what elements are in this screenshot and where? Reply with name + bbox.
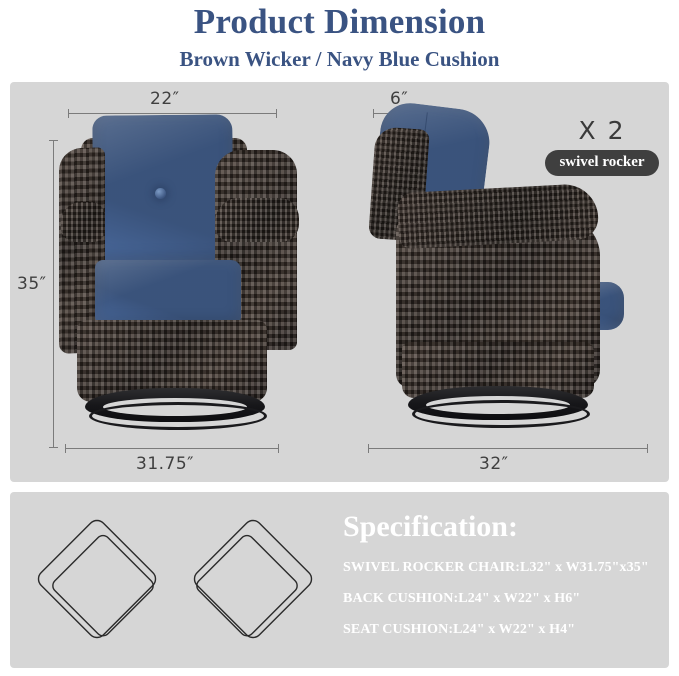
specification-heading: Specification: — [343, 512, 663, 542]
frame-right-arm-roll — [215, 198, 299, 242]
infographic-canvas: Product Dimension Brown Wicker / Navy Bl… — [0, 0, 679, 676]
spec-line: BACK CUSHION:L24" x W22" x H6" — [343, 592, 663, 606]
dim-label-overall-height: 35″ — [17, 274, 46, 294]
page-title: Product Dimension — [0, 4, 679, 39]
seat-cushion-outline-diagram — [178, 504, 328, 654]
dimension-panel: 4″ 22″ 35″ — [10, 82, 669, 482]
frame-left-arm-roll — [61, 202, 105, 242]
frame-side-arm-top — [397, 183, 600, 249]
header: Product Dimension Brown Wicker / Navy Bl… — [0, 0, 679, 70]
product-type-pill: swivel rocker — [545, 150, 658, 176]
spec-line: SWIVEL ROCKER CHAIR:L32" x W31.75"x35" — [343, 561, 663, 575]
dim-line-overall-depth — [368, 448, 648, 449]
specification-block: Specification: SWIVEL ROCKER CHAIR:L32" … — [343, 512, 663, 654]
dim-line-overall-height — [53, 140, 54, 448]
cushion-tuft-button — [155, 188, 166, 199]
swivel-base-foot-ring — [89, 402, 267, 430]
page-subtitle: Brown Wicker / Navy Blue Cushion — [0, 49, 679, 70]
quantity-count: X 2 — [538, 118, 666, 143]
dim-label-overall-width: 31.75″ — [136, 454, 194, 474]
chair-front-view: 4″ — [55, 110, 305, 455]
quantity-badge: X 2 swivel rocker — [538, 118, 666, 176]
back-cushion-outline-diagram — [22, 504, 172, 654]
dim-label-cushion-width: 22″ — [150, 89, 179, 109]
dim-line-cushion-width — [68, 113, 277, 114]
dim-line-overall-width — [65, 448, 279, 449]
swivel-base-foot-ring-side — [412, 400, 590, 428]
seat-cushion-front — [95, 260, 241, 328]
specification-lines: SWIVEL ROCKER CHAIR:L32" x W31.75"x35" B… — [343, 561, 663, 637]
spec-line: SEAT CUSHION:L24" x W22" x H4" — [343, 623, 663, 637]
dim-label-overall-depth: 32″ — [479, 454, 508, 474]
